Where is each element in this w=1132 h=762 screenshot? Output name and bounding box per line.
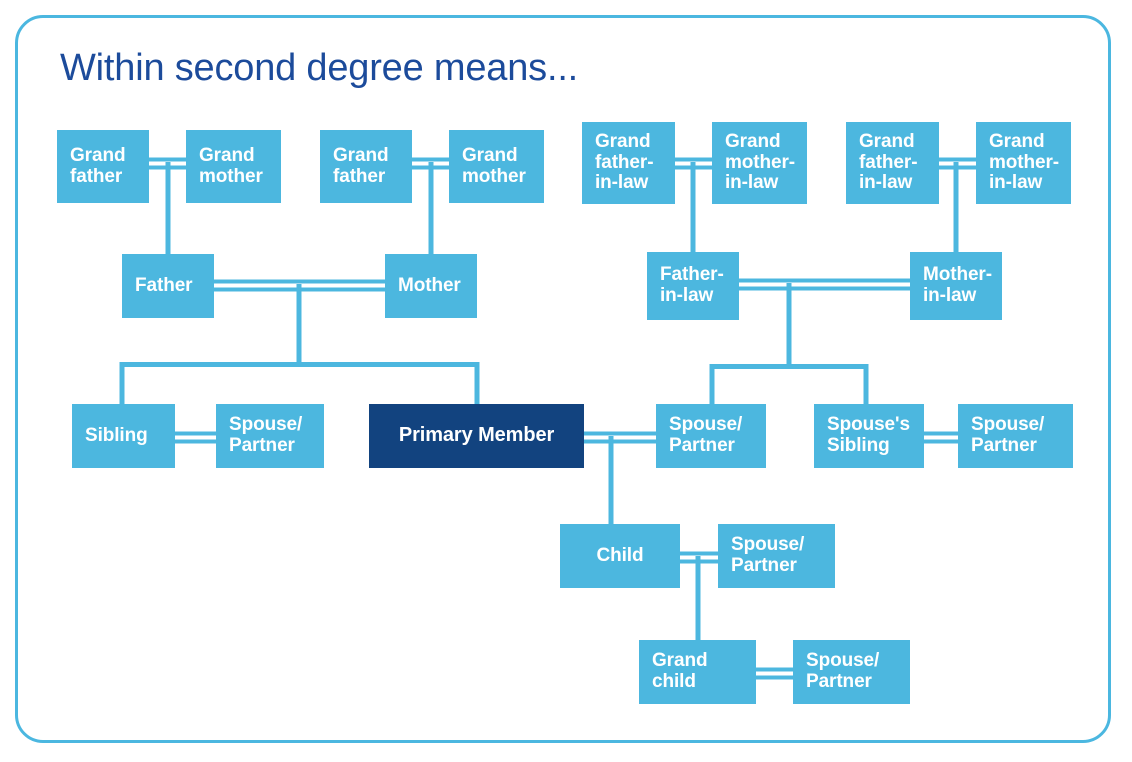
node-label-spouses-sibling: Spouse's Sibling bbox=[827, 415, 910, 456]
node-mother[interactable]: Mother bbox=[385, 254, 477, 318]
node-sibling[interactable]: Sibling bbox=[72, 404, 175, 468]
node-label-grandfather-maternal: Grand father bbox=[333, 146, 388, 187]
node-label-mother: Mother bbox=[398, 276, 461, 297]
node-spouses-sibling[interactable]: Spouse's Sibling bbox=[814, 404, 924, 468]
node-label-member-spouse: Spouse/ Partner bbox=[669, 415, 742, 456]
node-label-grandchild: Grand child bbox=[652, 651, 707, 692]
node-grandmother-maternal[interactable]: Grand mother bbox=[449, 130, 544, 203]
node-label-grandmother-in-law-1: Grand mother- in-law bbox=[725, 132, 795, 194]
diagram-canvas: Within second degree means... Grand fath… bbox=[0, 0, 1132, 762]
node-father[interactable]: Father bbox=[122, 254, 214, 318]
node-label-father: Father bbox=[135, 276, 192, 297]
node-grandfather-paternal[interactable]: Grand father bbox=[57, 130, 149, 203]
node-label-grandchild-spouse: Spouse/ Partner bbox=[806, 651, 879, 692]
node-label-grandfather-in-law-2: Grand father- in-law bbox=[859, 132, 917, 194]
node-label-child: Child bbox=[597, 546, 644, 567]
node-label-father-in-law: Father- in-law bbox=[660, 265, 724, 306]
node-grandmother-paternal[interactable]: Grand mother bbox=[186, 130, 281, 203]
node-label-grandmother-maternal: Grand mother bbox=[462, 146, 526, 187]
node-grandmother-in-law-1[interactable]: Grand mother- in-law bbox=[712, 122, 807, 204]
node-grandfather-in-law-2[interactable]: Grand father- in-law bbox=[846, 122, 939, 204]
node-label-grandfather-paternal: Grand father bbox=[70, 146, 125, 187]
node-label-grandmother-in-law-2: Grand mother- in-law bbox=[989, 132, 1059, 194]
node-grandfather-in-law-1[interactable]: Grand father- in-law bbox=[582, 122, 675, 204]
node-grandchild[interactable]: Grand child bbox=[639, 640, 756, 704]
node-label-primary-member: Primary Member bbox=[399, 425, 554, 447]
node-label-spouses-sibling-spouse: Spouse/ Partner bbox=[971, 415, 1044, 456]
node-grandchild-spouse[interactable]: Spouse/ Partner bbox=[793, 640, 910, 704]
node-member-spouse[interactable]: Spouse/ Partner bbox=[656, 404, 766, 468]
node-label-sibling: Sibling bbox=[85, 426, 148, 447]
node-primary-member[interactable]: Primary Member bbox=[369, 404, 584, 468]
node-label-sibling-spouse: Spouse/ Partner bbox=[229, 415, 302, 456]
node-label-mother-in-law: Mother- in-law bbox=[923, 265, 992, 306]
node-father-in-law[interactable]: Father- in-law bbox=[647, 252, 739, 320]
node-layer: Grand fatherGrand motherGrand fatherGran… bbox=[0, 0, 1132, 762]
node-label-child-spouse: Spouse/ Partner bbox=[731, 535, 804, 576]
node-grandfather-maternal[interactable]: Grand father bbox=[320, 130, 412, 203]
node-grandmother-in-law-2[interactable]: Grand mother- in-law bbox=[976, 122, 1071, 204]
node-child[interactable]: Child bbox=[560, 524, 680, 588]
node-label-grandmother-paternal: Grand mother bbox=[199, 146, 263, 187]
node-child-spouse[interactable]: Spouse/ Partner bbox=[718, 524, 835, 588]
node-sibling-spouse[interactable]: Spouse/ Partner bbox=[216, 404, 324, 468]
node-mother-in-law[interactable]: Mother- in-law bbox=[910, 252, 1002, 320]
node-label-grandfather-in-law-1: Grand father- in-law bbox=[595, 132, 653, 194]
node-spouses-sibling-spouse[interactable]: Spouse/ Partner bbox=[958, 404, 1073, 468]
